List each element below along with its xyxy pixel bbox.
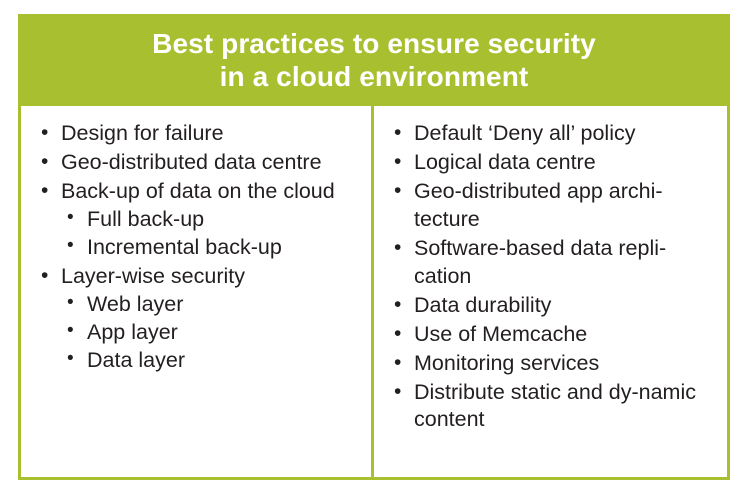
list-item: Data layer — [61, 347, 361, 375]
list-item: Default ‘Deny all’ policy — [388, 120, 717, 148]
list-item: Back-up of data on the cloud Full back-u… — [35, 178, 361, 262]
list-right: Default ‘Deny all’ policy Logical data c… — [388, 120, 717, 434]
list-item: Data durability — [388, 292, 717, 320]
best-practices-card: Best practices to ensure security in a c… — [18, 14, 730, 480]
list-item-label: Software-based data repli-cation — [414, 235, 717, 291]
list-item-label: Logical data centre — [414, 149, 717, 177]
list-item-label: Incremental back-up — [87, 235, 282, 259]
list-item-label: Distribute static and dy-namic content — [414, 379, 717, 435]
list-item-label: Design for failure — [61, 120, 361, 148]
header-line-1: Best practices to ensure security — [35, 27, 713, 60]
card-body: Design for failure Geo-distributed data … — [21, 106, 727, 477]
list-item-label: Data layer — [87, 348, 185, 372]
list-left: Design for failure Geo-distributed data … — [35, 120, 361, 374]
list-item-label: Use of Memcache — [414, 321, 717, 349]
list-item: Incremental back-up — [61, 234, 361, 262]
list-item: Layer-wise security Web layer App layer … — [35, 263, 361, 375]
list-item: Web layer — [61, 291, 361, 319]
list-item-label: Geo-distributed data centre — [61, 149, 361, 177]
sublist: Web layer App layer Data layer — [61, 291, 361, 375]
header-line-2: in a cloud environment — [35, 60, 713, 93]
list-item-label: Geo-distributed app archi-tecture — [414, 178, 717, 234]
list-item-label: Web layer — [87, 292, 183, 316]
list-item-label: Default ‘Deny all’ policy — [414, 120, 717, 148]
sublist: Full back-up Incremental back-up — [61, 206, 361, 262]
list-item: Geo-distributed data centre — [35, 149, 361, 177]
column-right: Default ‘Deny all’ policy Logical data c… — [374, 106, 727, 477]
list-item-label: App layer — [87, 320, 178, 344]
list-item: Monitoring services — [388, 350, 717, 378]
list-item: App layer — [61, 319, 361, 347]
list-item: Software-based data repli-cation — [388, 235, 717, 291]
list-item-label: Monitoring services — [414, 350, 717, 378]
list-item: Full back-up — [61, 206, 361, 234]
list-item: Geo-distributed app archi-tecture — [388, 178, 717, 234]
card-header: Best practices to ensure security in a c… — [21, 17, 727, 106]
list-item-label: Data durability — [414, 292, 717, 320]
list-item-label: Back-up of data on the cloud — [61, 178, 361, 206]
column-left: Design for failure Geo-distributed data … — [21, 106, 374, 477]
list-item: Use of Memcache — [388, 321, 717, 349]
list-item-label: Layer-wise security — [61, 263, 361, 291]
list-item: Distribute static and dy-namic content — [388, 379, 717, 435]
list-item-label: Full back-up — [87, 207, 204, 231]
list-item: Logical data centre — [388, 149, 717, 177]
list-item: Design for failure — [35, 120, 361, 148]
